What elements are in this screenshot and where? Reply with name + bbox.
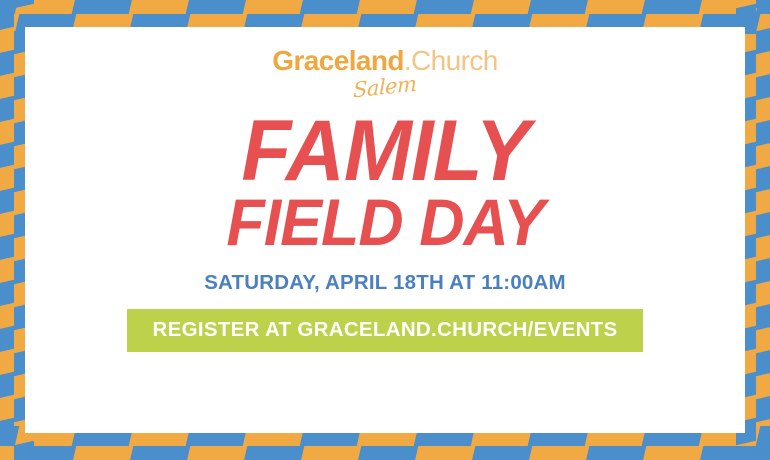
border-tile	[243, 446, 305, 460]
border-tile	[14, 441, 34, 460]
border-tile	[0, 326, 14, 354]
border-tile	[0, 4, 14, 32]
headline-line-2: FIELD DAY	[226, 192, 544, 253]
border-tile	[0, 142, 14, 170]
border-tile	[0, 234, 14, 262]
border-tile	[585, 446, 647, 460]
border-tile	[756, 165, 770, 193]
border-tile	[756, 27, 770, 55]
event-headline: FAMILY FIELD DAY	[218, 112, 552, 253]
event-date-time: SATURDAY, APRIL 18TH AT 11:00AM	[204, 271, 566, 295]
border-tile	[756, 349, 770, 377]
border-tile	[129, 446, 191, 460]
border-tile	[0, 96, 14, 124]
headline-line-1: FAMILY	[226, 112, 544, 192]
logo-wordmark: Graceland.Church	[272, 47, 497, 75]
border-tile	[72, 0, 134, 14]
border-tile	[756, 441, 770, 460]
border-tile	[0, 418, 14, 446]
border-tile	[414, 0, 476, 14]
logo-brand-text: Graceland	[272, 45, 404, 76]
border-tile	[0, 280, 14, 308]
border-tile	[642, 0, 704, 14]
logo-tld-text: .Church	[404, 45, 498, 76]
border-tile	[756, 211, 770, 239]
flyer-canvas: Graceland.Church Salem FAMILY FIELD DAY …	[0, 0, 770, 460]
border-tile	[357, 446, 419, 460]
border-tile	[471, 446, 533, 460]
content-card: Graceland.Church Salem FAMILY FIELD DAY …	[25, 27, 745, 433]
border-tile	[756, 119, 770, 147]
border-tile	[756, 0, 770, 8]
logo-campus-wrap: Salem	[272, 75, 497, 98]
church-logo: Graceland.Church Salem	[272, 47, 497, 98]
border-tile	[756, 257, 770, 285]
border-tile	[756, 303, 770, 331]
border-tile	[0, 372, 14, 400]
border-tile	[0, 50, 14, 78]
border-tile	[300, 0, 362, 14]
border-tile	[756, 73, 770, 101]
register-cta-bar[interactable]: REGISTER AT GRACELAND.CHURCH/EVENTS	[127, 309, 644, 352]
border-tile	[186, 0, 248, 14]
border-tile	[528, 0, 590, 14]
border-tile	[0, 188, 14, 216]
border-tile	[14, 0, 34, 8]
logo-campus-script: Salem	[353, 74, 416, 102]
border-tile	[756, 395, 770, 423]
